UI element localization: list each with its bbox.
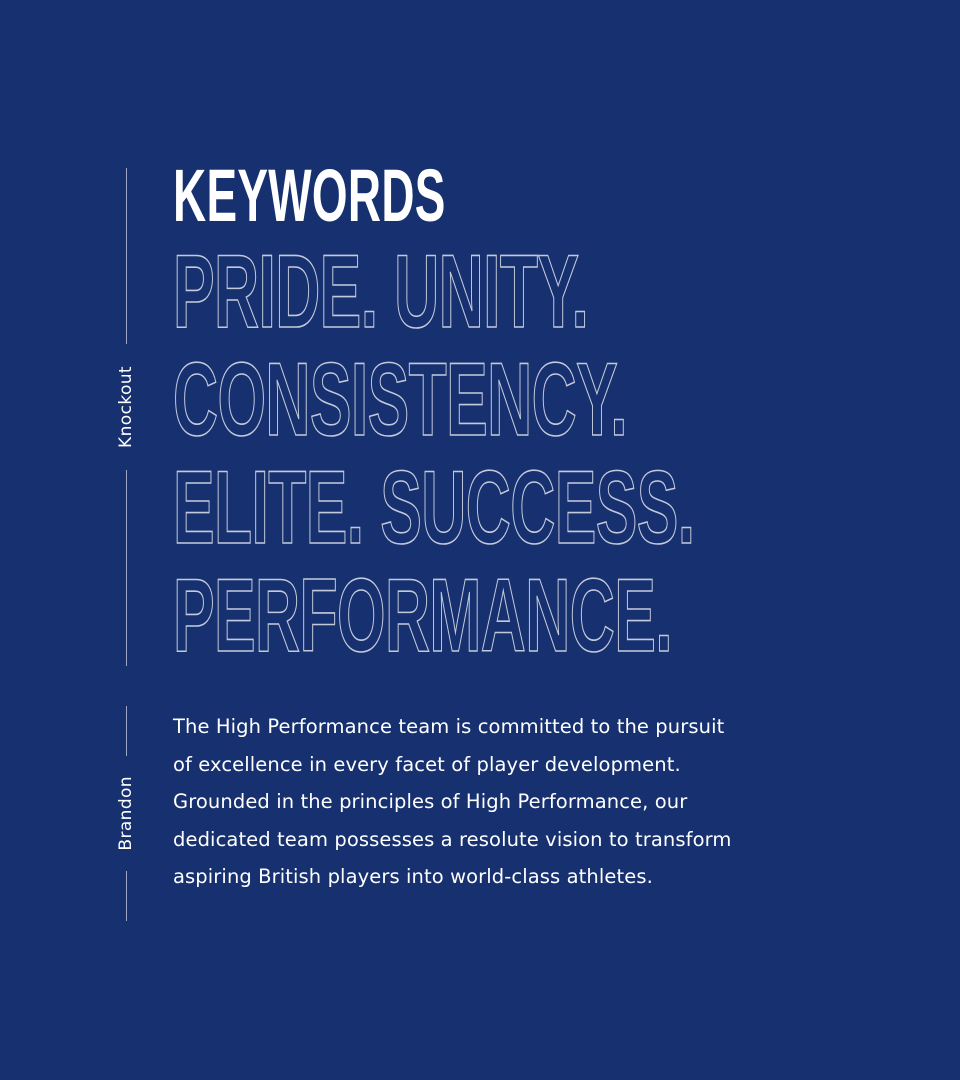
keyword-list: PRIDE. UNITY. CONSISTENCY. ELITE. SUCCES… [173,238,933,670]
typeface-label-knockout: Knockout [118,354,135,460]
rail-divider-line-bottom [126,871,127,921]
body-paragraph: The High Performance team is committed t… [173,708,733,896]
rail-divider-line-top [126,706,127,756]
keyword-line: PERFORMANCE. [173,562,629,670]
keyword-line: CONSISTENCY. [173,346,629,454]
typeface-rail-display: Knockout [106,168,146,676]
page-title: KEYWORDS [173,160,644,232]
typeface-rail-body: Brandon [106,706,146,912]
content-column: KEYWORDS PRIDE. UNITY. CONSISTENCY. ELIT… [173,160,933,896]
typeface-label-brandon: Brandon [118,764,135,863]
keyword-line: ELITE. SUCCESS. [173,454,629,562]
keyword-line: PRIDE. UNITY. [173,238,629,346]
rail-divider-line-bottom [126,470,127,666]
body-copy: The High Performance team is committed t… [173,708,733,896]
rail-divider-line-top [126,168,127,344]
brand-guideline-page: Knockout Brandon KEYWORDS PRIDE. UNITY. … [0,0,960,1080]
